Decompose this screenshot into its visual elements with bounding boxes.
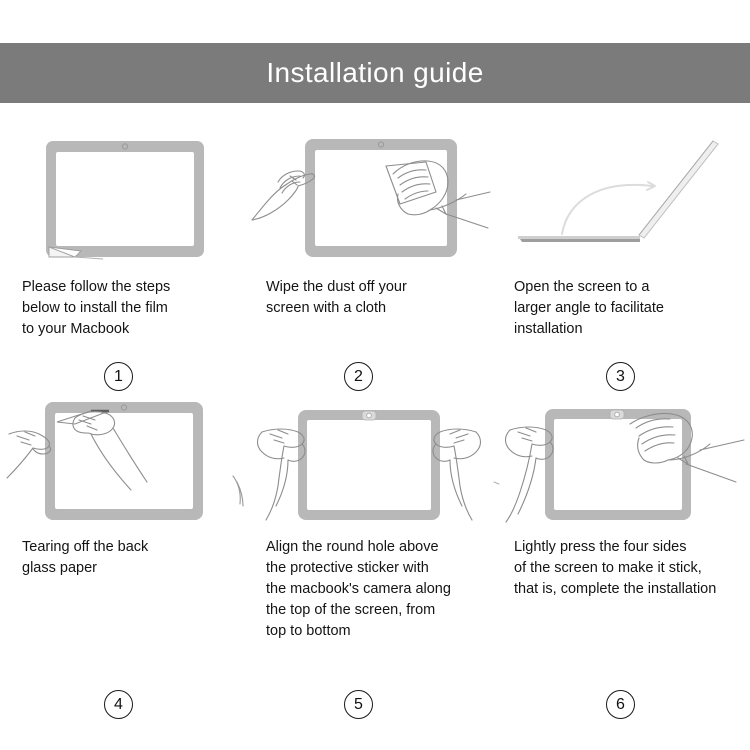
step-1-illustration [0, 130, 250, 265]
step-number-1-label: 1 [114, 369, 123, 385]
laptop-side-view-opening-icon [500, 130, 750, 265]
step-6-illustration [500, 390, 750, 525]
step-3-caption: Open the screen to a larger angle to fac… [500, 277, 750, 340]
hands-wiping-screen-with-cloth-icon [250, 130, 500, 265]
step-number-3-label: 3 [616, 369, 625, 385]
step-5-caption: Align the round hole above the protectiv… [250, 537, 500, 642]
step-number-1: 1 [104, 362, 133, 391]
step-number-6-label: 6 [616, 697, 625, 713]
step-number-2: 2 [344, 362, 373, 391]
hand-pressing-screen-icon [500, 390, 750, 525]
hands-aligning-film-icon [250, 390, 500, 525]
step-number-4-label: 4 [114, 697, 123, 713]
step-cell-1: Please follow the steps below to install… [0, 130, 250, 390]
step-4-illustration [0, 390, 250, 525]
step-number-3: 3 [606, 362, 635, 391]
step-number-2-label: 2 [354, 369, 363, 385]
page-title: Installation guide [266, 59, 483, 87]
step-number-4: 4 [104, 690, 133, 719]
step-cell-4: Tearing off the back glass paper 4 [0, 390, 250, 642]
step-3-illustration [500, 130, 750, 265]
step-4-caption: Tearing off the back glass paper [0, 537, 250, 579]
step-1-caption: Please follow the steps below to install… [0, 277, 250, 340]
installation-guide-page: Installation guide Please follo [0, 0, 750, 750]
step-2-illustration [250, 130, 500, 265]
step-cell-5: Align the round hole above the protectiv… [250, 390, 500, 642]
step-cell-2: Wipe the dust off your screen with a clo… [250, 130, 500, 390]
hands-peeling-back-paper-icon [5, 390, 245, 525]
step-6-caption: Lightly press the four sides of the scre… [500, 537, 750, 600]
screen-with-peeling-corner-icon [35, 130, 215, 265]
step-number-5: 5 [344, 690, 373, 719]
step-5-illustration [250, 390, 500, 525]
step-cell-3: Open the screen to a larger angle to fac… [500, 130, 750, 390]
step-2-caption: Wipe the dust off your screen with a clo… [250, 277, 500, 319]
step-number-6: 6 [606, 690, 635, 719]
steps-grid: Please follow the steps below to install… [0, 130, 750, 642]
header-bar: Installation guide [0, 43, 750, 103]
step-cell-6: Lightly press the four sides of the scre… [500, 390, 750, 642]
step-number-5-label: 5 [354, 697, 363, 713]
